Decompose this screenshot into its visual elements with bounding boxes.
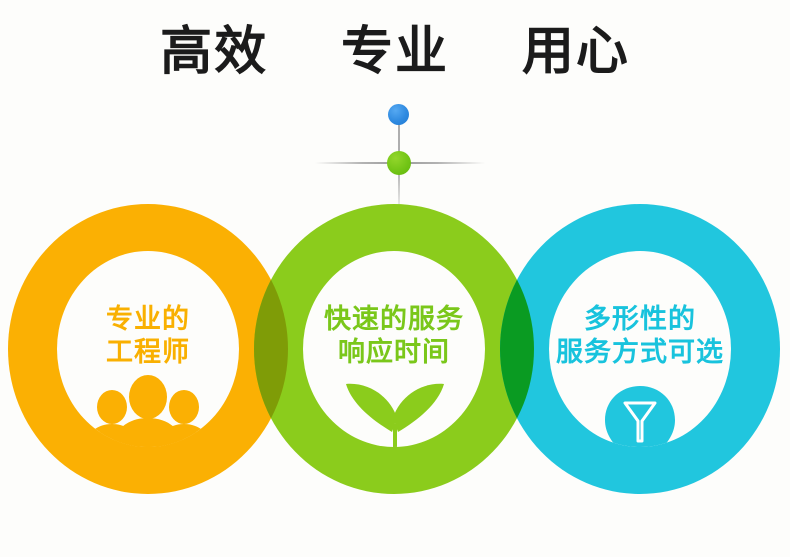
label-service-modes: 多形性的 服务方式可选 xyxy=(525,303,755,369)
label-response-time-line1: 快速的服务 xyxy=(294,303,494,336)
label-service-modes-line2: 服务方式可选 xyxy=(525,336,755,369)
label-engineers-line1: 专业的 xyxy=(48,303,248,336)
infographic-canvas: 高效 专业 用心 xyxy=(0,0,790,557)
label-response-time-line2: 响应时间 xyxy=(294,336,494,369)
label-response-time: 快速的服务 响应时间 xyxy=(294,303,494,369)
label-service-modes-line1: 多形性的 xyxy=(525,303,755,336)
overlap-green-cyan xyxy=(0,0,790,557)
venn-rings-group xyxy=(0,0,790,557)
label-engineers: 专业的 工程师 xyxy=(48,303,248,369)
label-engineers-line2: 工程师 xyxy=(48,336,248,369)
